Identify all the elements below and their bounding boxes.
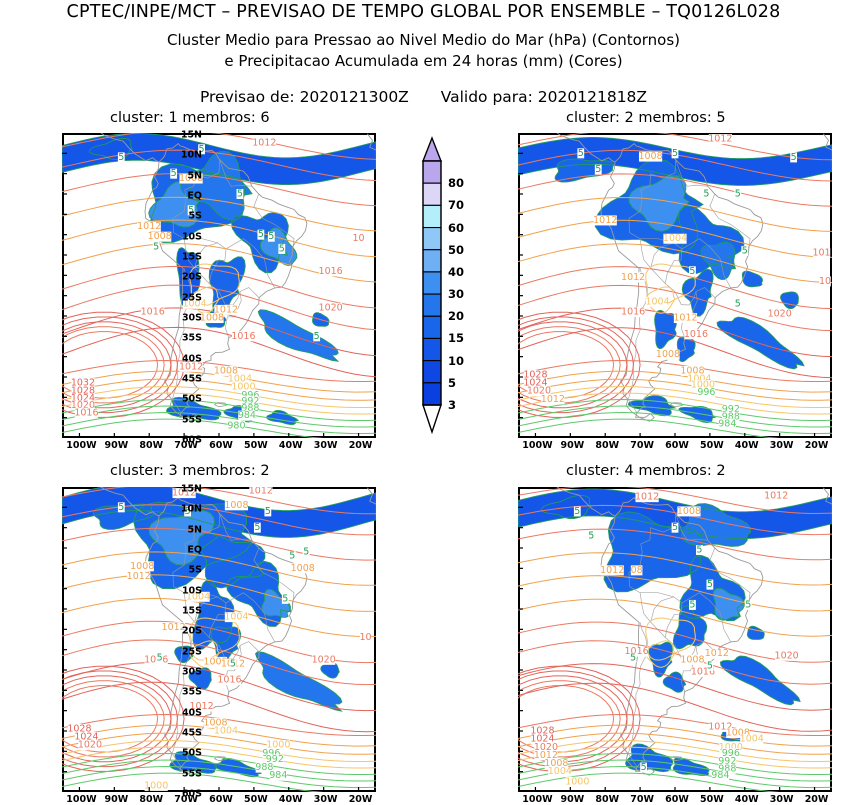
map-canvas: 1012101210081008101210081004100410121010… bbox=[62, 487, 376, 792]
precip-contour-label: 5 bbox=[707, 660, 713, 671]
precip-contour-label: 5 bbox=[279, 243, 285, 254]
panel-title-cluster-2: cluster: 2 membros: 5 bbox=[566, 110, 726, 126]
contour-label: 996 bbox=[697, 387, 715, 398]
y-axis-tick-label: 5S bbox=[189, 565, 202, 576]
colorbar-tick-label: 80 bbox=[448, 176, 464, 190]
precip-contour-label: 5 bbox=[268, 231, 274, 242]
precip-contour-label: 5 bbox=[735, 189, 741, 200]
x-axis-tick-label: 20W bbox=[805, 440, 829, 451]
contour-label: 984 bbox=[718, 418, 736, 429]
precip-contour-label: 5 bbox=[791, 152, 797, 163]
colorbar-tick-label: 70 bbox=[448, 198, 464, 212]
colorbar-max-arrow bbox=[423, 138, 441, 161]
contour-label: 10 bbox=[353, 233, 365, 244]
y-axis-tick-label: 35S bbox=[182, 333, 202, 344]
contour-label: 1016 bbox=[319, 266, 343, 277]
contour-label: 1020 bbox=[775, 650, 799, 661]
contour-label: 08 bbox=[631, 565, 643, 576]
contour-label: 1004 bbox=[645, 296, 669, 307]
y-axis-tick-label: 25S bbox=[182, 646, 202, 657]
contour-label: 1008 bbox=[291, 563, 315, 574]
x-axis-tick-label: 70W bbox=[630, 794, 654, 805]
precip-contour-label: 5 bbox=[703, 189, 709, 200]
x-axis-tick-label: 30W bbox=[770, 794, 794, 805]
x-axis-tick-label: 20W bbox=[349, 794, 373, 805]
contour-label: 1004 bbox=[214, 726, 238, 737]
precip-contour-label: 5 bbox=[707, 579, 713, 590]
y-axis-tick-label: 55S bbox=[182, 768, 202, 779]
map-canvas: 1012100810121008101016100410161012102010… bbox=[62, 133, 376, 438]
precip-contour-label: 5 bbox=[735, 298, 741, 309]
contour-label: 1016 bbox=[625, 646, 649, 657]
y-axis-tick-label: EQ bbox=[187, 545, 202, 556]
y-axis-tick-label: 20S bbox=[182, 272, 202, 283]
page-title: CPTEC/INPE/MCT – PREVISAO DE TEMPO GLOBA… bbox=[0, 2, 847, 22]
colorbar-band bbox=[423, 361, 441, 383]
precip-contour-label: 5 bbox=[237, 189, 243, 200]
y-axis-tick-label: 25S bbox=[182, 292, 202, 303]
colorbar-min-arrow bbox=[423, 405, 441, 432]
forecast-from-label: Previsao de: 2020121300Z bbox=[200, 88, 409, 106]
y-axis-tick-label: 50S bbox=[182, 394, 202, 405]
contour-label: 1004 bbox=[224, 612, 248, 623]
x-axis-tick-label: 60W bbox=[665, 440, 689, 451]
subtitle-line-2: e Precipitacao Acumulada em 24 horas (mm… bbox=[0, 52, 847, 70]
contour-label: 1020 bbox=[319, 302, 343, 313]
contour-label: 1008 bbox=[638, 151, 662, 162]
panel-title-cluster-4: cluster: 4 membros: 2 bbox=[566, 463, 726, 479]
panel-title-cluster-1: cluster: 1 membros: 6 bbox=[110, 110, 270, 126]
x-axis-tick-label: 40W bbox=[279, 440, 303, 451]
y-axis-tick-label: 15N bbox=[181, 130, 202, 141]
x-axis-tick-label: 90W bbox=[560, 794, 584, 805]
x-axis-tick-label: 50W bbox=[244, 794, 268, 805]
colorbar-tick-label: 30 bbox=[448, 287, 464, 301]
precip-contour-label: 5 bbox=[258, 229, 264, 240]
x-axis-tick-label: 60W bbox=[209, 440, 233, 451]
contour-label: 1008 bbox=[677, 506, 701, 517]
y-axis-tick-label: 10S bbox=[182, 585, 202, 596]
y-axis-tick-label: 5N bbox=[187, 524, 202, 535]
precip-contour-label: 5 bbox=[303, 547, 309, 558]
contour-label: 101 bbox=[812, 247, 830, 258]
contour-label: 1016 bbox=[74, 407, 98, 418]
y-axis-tick-label: 10N bbox=[181, 150, 202, 161]
contour-label: 1012 bbox=[127, 571, 151, 582]
precip-contour-label: 5 bbox=[595, 164, 601, 175]
y-axis-tick-label: 10N bbox=[181, 504, 202, 515]
contour-label: 984 bbox=[269, 770, 287, 781]
y-axis-tick-label: 5S bbox=[189, 211, 202, 222]
colorbar-band bbox=[423, 316, 441, 338]
y-axis-tick-label: 30S bbox=[182, 313, 202, 324]
x-axis-tick-label: 50W bbox=[244, 440, 268, 451]
y-axis-tick-label: 60S bbox=[182, 435, 202, 446]
x-axis-tick-label: 40W bbox=[735, 794, 759, 805]
precip-contour-label: 5 bbox=[696, 545, 702, 556]
y-axis-tick-label: 40S bbox=[182, 707, 202, 718]
colorbar-band bbox=[423, 338, 441, 360]
map-canvas: 1012100810121004101101210100410161012102… bbox=[518, 133, 832, 438]
y-axis-tick-label: 40S bbox=[182, 353, 202, 364]
contour-label: 1020 bbox=[312, 654, 336, 665]
y-axis-tick-label: 10S bbox=[182, 231, 202, 242]
precip-contour-label: 5 bbox=[118, 502, 124, 513]
precip-contour-label: 5 bbox=[745, 599, 751, 610]
valid-for-label: Valido para: 2020121818Z bbox=[441, 88, 647, 106]
colorbar-band bbox=[423, 250, 441, 272]
colorbar-band bbox=[423, 161, 441, 183]
precip-contour-label: 5 bbox=[254, 522, 260, 533]
panel-title-cluster-3: cluster: 3 membros: 2 bbox=[110, 463, 270, 479]
x-axis-tick-label: 80W bbox=[139, 440, 163, 451]
contour-label: 1008 bbox=[200, 313, 224, 324]
colorbar-tick-label: 50 bbox=[448, 243, 464, 257]
x-axis-tick-label: 60W bbox=[665, 794, 689, 805]
x-axis-tick-label: 50W bbox=[700, 440, 724, 451]
contour-label: 1008 bbox=[224, 500, 248, 511]
contour-label: 980 bbox=[227, 420, 245, 431]
y-axis-tick-label: 45S bbox=[182, 728, 202, 739]
contour-label: 1012 bbox=[635, 492, 659, 503]
precip-contour-label: 5 bbox=[689, 266, 695, 277]
colorbar-band bbox=[423, 272, 441, 294]
contour-label: 1016 bbox=[231, 331, 255, 342]
precip-contour-label: 5 bbox=[265, 506, 271, 517]
y-axis-tick-label: 45S bbox=[182, 374, 202, 385]
y-axis-tick-label: EQ bbox=[187, 191, 202, 202]
contour-label: 1016 bbox=[141, 306, 165, 317]
contour-label: 1008 bbox=[656, 349, 680, 360]
y-axis-tick-label: 35S bbox=[182, 687, 202, 698]
y-axis-tick-label: 5N bbox=[187, 170, 202, 181]
x-axis-tick-label: 20W bbox=[349, 440, 373, 451]
x-axis-tick-label: 80W bbox=[139, 794, 163, 805]
colorbar-band bbox=[423, 383, 441, 405]
contour-label: 1012 bbox=[764, 490, 788, 501]
contour-label: 1012 bbox=[705, 648, 729, 659]
contour-label: 984 bbox=[711, 770, 729, 781]
contour-label: 10 bbox=[359, 632, 371, 643]
subtitle-line-1: Cluster Medio para Pressao ao Nivel Medi… bbox=[0, 31, 847, 49]
contour-label: 1008 bbox=[680, 654, 704, 665]
contour-label: 1004 bbox=[663, 233, 687, 244]
precip-contour-label: 5 bbox=[153, 241, 159, 252]
precip-contour-label: 5 bbox=[672, 522, 678, 533]
precip-contour-label: 5 bbox=[289, 551, 295, 562]
precip-contour-label: 5 bbox=[641, 762, 647, 773]
colorbar-tick-label: 15 bbox=[448, 331, 464, 345]
contour-label: 1012 bbox=[593, 215, 617, 226]
colorbar-tick-label: 10 bbox=[448, 354, 464, 368]
x-axis-tick-label: 30W bbox=[314, 794, 338, 805]
x-axis-tick-label: 20W bbox=[805, 794, 829, 805]
precip-contour-label: 5 bbox=[314, 331, 320, 342]
colorbar-band bbox=[423, 183, 441, 205]
x-axis-tick-label: 60W bbox=[209, 794, 233, 805]
contour-label: 1012 bbox=[708, 134, 732, 145]
x-axis-tick-label: 80W bbox=[595, 440, 619, 451]
precip-contour-label: 5 bbox=[630, 652, 636, 663]
y-axis-tick-label: 20S bbox=[182, 626, 202, 637]
colorbar-tick-label: 40 bbox=[448, 265, 464, 279]
y-axis-tick-label: 15S bbox=[182, 252, 202, 263]
map-canvas: 1012101210081012081016100810121020101610… bbox=[518, 487, 832, 792]
x-axis-tick-label: 40W bbox=[735, 440, 759, 451]
y-axis-tick-label: 60S bbox=[182, 789, 202, 800]
colorbar-tick-label: 20 bbox=[448, 309, 464, 323]
colorbar-tick-label: 60 bbox=[448, 221, 464, 235]
contour-label: 10 bbox=[819, 276, 831, 287]
colorbar-band bbox=[423, 205, 441, 227]
x-axis-tick-label: 90W bbox=[560, 440, 584, 451]
x-axis-tick-label: 100W bbox=[66, 794, 96, 805]
precip-contour-label: 5 bbox=[157, 652, 163, 663]
contour-label: 1020 bbox=[78, 740, 102, 751]
x-axis-tick-label: 30W bbox=[314, 440, 338, 451]
contour-label: 1012 bbox=[252, 138, 276, 149]
contour-label: 1016 bbox=[684, 329, 708, 340]
precip-contour-label: 5 bbox=[588, 530, 594, 541]
contour-label: 1012 bbox=[249, 487, 273, 497]
contour-label: 1012 bbox=[621, 272, 645, 283]
contour-label: 1000 bbox=[565, 776, 589, 787]
x-axis-tick-label: 70W bbox=[630, 440, 654, 451]
contour-label: 1004 bbox=[740, 734, 764, 745]
x-axis-tick-label: 100W bbox=[66, 440, 96, 451]
precip-contour-label: 5 bbox=[230, 658, 236, 669]
contour-label: 1012 bbox=[673, 313, 697, 324]
precip-contour-label: 5 bbox=[171, 168, 177, 179]
contour-label: 1012 bbox=[541, 394, 565, 405]
y-axis-tick-label: 15S bbox=[182, 606, 202, 617]
x-axis-tick-label: 100W bbox=[522, 440, 552, 451]
precip-contour-label: 5 bbox=[742, 245, 748, 256]
colorbar-band bbox=[423, 228, 441, 250]
colorbar-band bbox=[423, 294, 441, 316]
contour-label: 1000 bbox=[144, 780, 168, 791]
contour-label: 1012 bbox=[600, 565, 624, 576]
x-axis-tick-label: 80W bbox=[595, 794, 619, 805]
x-axis-tick-label: 100W bbox=[522, 794, 552, 805]
y-axis-tick-label: 30S bbox=[182, 667, 202, 678]
x-axis-tick-label: 30W bbox=[770, 440, 794, 451]
precipitation-colorbar: 35101520304050607080 bbox=[415, 133, 485, 438]
colorbar-tick-label: 3 bbox=[448, 398, 456, 412]
x-axis-tick-label: 50W bbox=[700, 794, 724, 805]
precip-contour-label: 5 bbox=[672, 148, 678, 159]
x-axis-tick-label: 90W bbox=[104, 794, 128, 805]
forecast-time-line: Previsao de: 2020121300Z Valido para: 20… bbox=[0, 88, 847, 106]
precip-contour-label: 5 bbox=[282, 593, 288, 604]
precip-contour-label: 5 bbox=[578, 148, 584, 159]
contour-label: 1016 bbox=[621, 306, 645, 317]
y-axis-tick-label: 50S bbox=[182, 748, 202, 759]
x-axis-tick-label: 90W bbox=[104, 440, 128, 451]
contour-label: 1020 bbox=[768, 308, 792, 319]
precip-contour-label: 5 bbox=[574, 506, 580, 517]
contour-label: 1016 bbox=[217, 675, 241, 686]
precip-contour-label: 5 bbox=[118, 152, 124, 163]
y-axis-tick-label: 15N bbox=[181, 484, 202, 495]
y-axis-tick-label: 55S bbox=[182, 414, 202, 425]
colorbar-tick-label: 5 bbox=[448, 376, 456, 390]
precip-contour-label: 5 bbox=[689, 599, 695, 610]
x-axis-tick-label: 40W bbox=[279, 794, 303, 805]
contour-label: 1008 bbox=[148, 231, 172, 242]
